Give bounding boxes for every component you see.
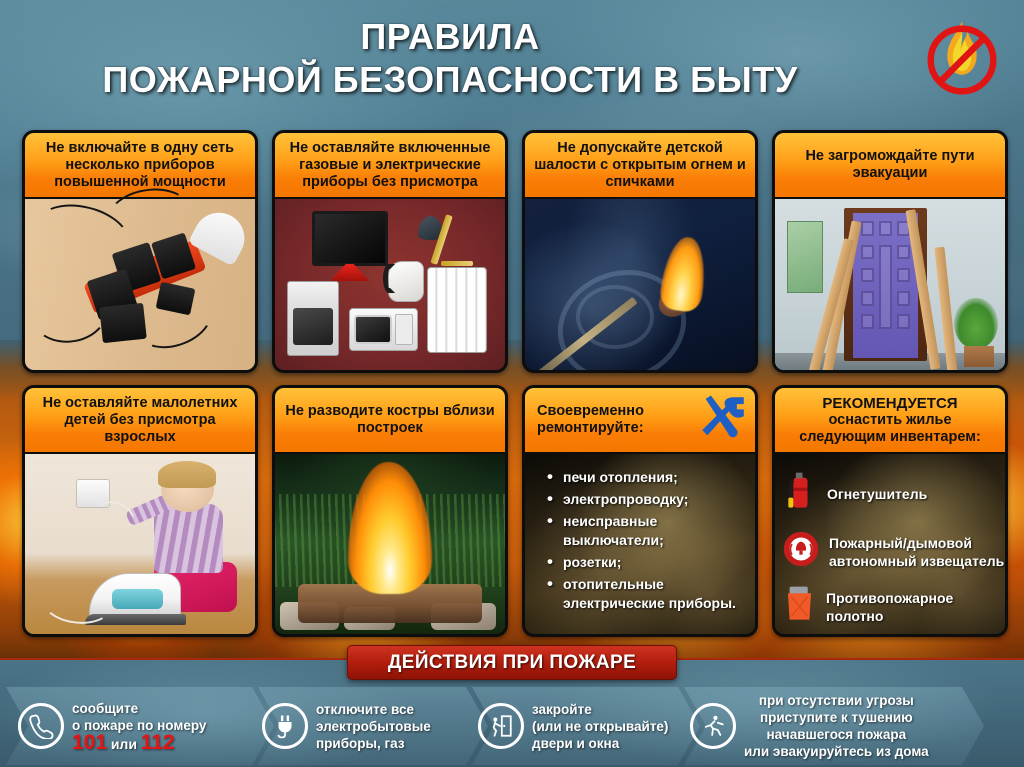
running-person-icon (690, 703, 736, 749)
list-item: отопительные электрические приборы. (547, 575, 747, 613)
emergency-number-1: 101 (72, 731, 107, 754)
step-text: закройте (или не открывайте) двери и окн… (532, 701, 668, 752)
step-line-3: приборы, газ (316, 735, 431, 752)
step-close-doors-windows: закройте (или не открывайте) двери и окн… (478, 685, 690, 767)
page-title: ПРАВИЛА ПОЖАРНОЙ БЕЗОПАСНОСТИ В БЫТУ (0, 16, 900, 102)
no-open-flame-icon (916, 12, 1008, 108)
footer-steps: сообщите о пожаре по номеру 101 или 112 (0, 685, 1024, 767)
card-image (25, 454, 255, 634)
household-appliances-photo (275, 199, 505, 370)
step-extinguish-or-evacuate: при отсутствии угрозы приступите к тушен… (690, 685, 1010, 767)
step-line-2: (или не открывайте) (532, 718, 668, 735)
action-banner: ДЕЙСТВИЯ ПРИ ПОЖАРЕ (347, 645, 677, 680)
step-line-1: отключите все (316, 701, 431, 718)
card-title-line-1: РЕКОМЕНДУЕТСЯ (822, 395, 957, 412)
action-banner-label: ДЕЙСТВИЯ ПРИ ПОЖАРЕ (388, 652, 636, 674)
step-line-1: при отсутствии угрозы (744, 692, 929, 709)
repair-list: печи отопления; электропроводку; неиспра… (525, 454, 755, 624)
card-title: Не разводите костры вблизи построек (275, 388, 505, 454)
card-recommended-inventory: РЕКОМЕНДУЕТСЯ оснастить жилье следующим … (772, 385, 1008, 637)
list-item: Пожарный/дымовой автономный извещатель (775, 531, 1005, 572)
card-title-line-2: оснастить жилье (828, 412, 951, 429)
tools-wrench-screwdriver-icon (697, 392, 749, 449)
smoke-detector-icon (783, 531, 819, 572)
step-text: отключите все электробытовые приборы, га… (316, 701, 431, 752)
inventory-label: Огнетушитель (827, 485, 927, 503)
card-image (275, 199, 505, 370)
step-call-fire-service: сообщите о пожаре по номеру 101 или 112 (18, 685, 268, 767)
conjunction: или (111, 736, 137, 752)
repair-list-body: печи отопления; электропроводку; неиспра… (525, 454, 755, 634)
fire-safety-poster: ПРАВИЛА ПОЖАРНОЙ БЕЗОПАСНОСТИ В БЫТУ Не … (0, 0, 1024, 767)
card-timely-repair: Своевременно ремонтируйте: печи отоплени… (522, 385, 758, 637)
card-title: Не загромождайте пути эвакуации (775, 133, 1005, 199)
card-evacuation-routes: Не загромождайте пути эвакуации (772, 130, 1008, 373)
close-door-icon (478, 703, 524, 749)
list-item: Огнетушитель (775, 466, 1005, 521)
list-item: неисправные выключатели; (547, 512, 747, 550)
card-image (25, 199, 255, 370)
bonfire-photo (275, 454, 505, 634)
step-text: сообщите о пожаре по номеру 101 или 112 (72, 700, 206, 753)
poster-header: ПРАВИЛА ПОЖАРНОЙ БЕЗОПАСНОСТИ В БЫТУ (0, 0, 1024, 122)
list-item: Противопожарное полотно (775, 582, 1005, 631)
title-line-1: ПРАВИЛА (0, 16, 900, 58)
step-line-2: электробытовые (316, 718, 431, 735)
card-power-overload: Не включайте в одну сеть несколько прибо… (22, 130, 258, 373)
step-line-4: или эвакуируйтесь из дома (744, 743, 929, 760)
step-text: при отсутствии угрозы приступите к тушен… (744, 692, 929, 760)
inventory-label: Противопожарное полотно (826, 589, 1005, 625)
fire-extinguisher-icon (783, 466, 817, 521)
card-bonfires: Не разводите костры вблизи построек (272, 385, 508, 637)
card-children-unattended: Не оставляйте малолетних детей без присм… (22, 385, 258, 637)
list-item: розетки; (547, 553, 747, 572)
power-plug-icon (262, 703, 308, 749)
card-title-row: Своевременно ремонтируйте: (525, 388, 755, 454)
card-image (525, 199, 755, 370)
card-image (275, 454, 505, 634)
toddler-with-iron-photo (25, 454, 255, 634)
card-title: Не оставляйте включенные газовые и элект… (275, 133, 505, 199)
card-title-line-3: следующим инвентарем: (799, 429, 981, 446)
step-line-1: закройте (532, 701, 668, 718)
step-line-1: сообщите (72, 700, 206, 717)
card-image (775, 199, 1005, 370)
emergency-number-2: 112 (141, 731, 175, 754)
step-line-3: двери и окна (532, 735, 668, 752)
step-line-2: приступите к тушению (744, 709, 929, 726)
card-title: Не допускайте детской шалости с открытым… (525, 133, 755, 199)
burning-match-photo (525, 199, 755, 370)
step-line-3: начавшегося пожара (744, 726, 929, 743)
phone-icon (18, 703, 64, 749)
inventory-list-body: Огнетушитель Пожарный/дымовой автономный… (775, 454, 1005, 634)
card-unattended-appliances: Не оставляйте включенные газовые и элект… (272, 130, 508, 373)
card-children-fire: Не допускайте детской шалости с открытым… (522, 130, 758, 373)
card-title: Своевременно ремонтируйте: (537, 403, 697, 437)
inventory-label: Пожарный/дымовой автономный извещатель (829, 534, 1005, 570)
title-line-2: ПОЖАРНОЙ БЕЗОПАСНОСТИ В БЫТУ (0, 58, 900, 102)
overloaded-power-strip-photo (25, 199, 255, 370)
card-title-block: РЕКОМЕНДУЕТСЯ оснастить жилье следующим … (775, 388, 1005, 454)
fire-blanket-icon (783, 582, 816, 631)
list-item: электропроводку; (547, 490, 747, 509)
card-title: Не оставляйте малолетних детей без присм… (25, 388, 255, 454)
list-item: печи отопления; (547, 468, 747, 487)
step-turn-off-appliances: отключите все электробытовые приборы, га… (262, 685, 477, 767)
blocked-door-photo (775, 199, 1005, 370)
